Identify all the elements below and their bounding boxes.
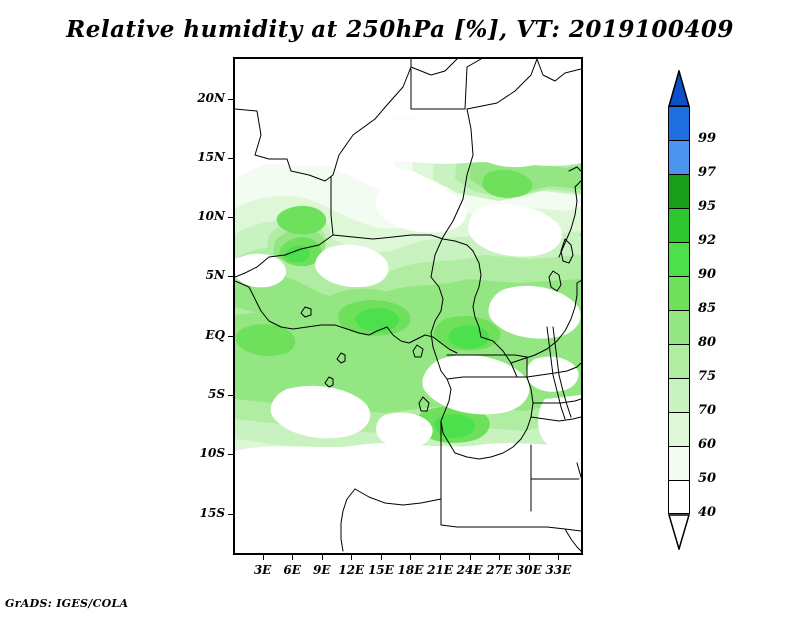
colorbar-label: 80 xyxy=(698,335,716,350)
lon-tick xyxy=(529,555,530,560)
lat-tick xyxy=(228,217,233,218)
colorbar-band xyxy=(668,378,690,412)
lat-tick xyxy=(228,395,233,396)
colorbar-label: 85 xyxy=(698,301,716,316)
colorbar-band xyxy=(668,208,690,242)
colorbar-band xyxy=(668,446,690,480)
lat-label: 20N xyxy=(169,91,225,105)
colorbar-label: 75 xyxy=(698,369,716,384)
lat-tick xyxy=(228,158,233,159)
humidity-field xyxy=(235,59,581,553)
colorbar-band xyxy=(668,412,690,446)
lat-label: 10N xyxy=(169,209,225,223)
lat-label: 15S xyxy=(169,506,225,520)
lon-tick xyxy=(410,555,411,560)
lon-tick xyxy=(292,555,293,560)
colorbar-band xyxy=(668,242,690,276)
page-title: Relative humidity at 250hPa [%], VT: 201… xyxy=(0,16,800,43)
colorbar-arrow-top xyxy=(668,70,690,106)
colorbar-band xyxy=(668,276,690,310)
lat-tick xyxy=(228,454,233,455)
lat-label: EQ xyxy=(169,328,225,342)
colorbar-band xyxy=(668,344,690,378)
colorbar-label: 40 xyxy=(698,505,716,520)
colorbar-label: 70 xyxy=(698,403,716,418)
lon-tick xyxy=(440,555,441,560)
colorbar-label: 97 xyxy=(698,165,716,180)
colorbar-label: 92 xyxy=(698,233,716,248)
colorbar-label: 95 xyxy=(698,199,716,214)
colorbar-label: 99 xyxy=(698,131,716,146)
lon-tick xyxy=(263,555,264,560)
map-svg xyxy=(235,59,581,553)
lat-label: 10S xyxy=(169,446,225,460)
grads-credit: GrADS: IGES/COLA xyxy=(5,597,128,610)
lon-tick xyxy=(381,555,382,560)
colorbar-band xyxy=(668,480,690,514)
lat-tick xyxy=(228,336,233,337)
colorbar-label: 60 xyxy=(698,437,716,452)
lat-tick xyxy=(228,514,233,515)
lon-tick xyxy=(351,555,352,560)
grads-plot-canvas: Relative humidity at 250hPa [%], VT: 201… xyxy=(0,0,800,618)
lon-tick xyxy=(322,555,323,560)
colorbar[interactable] xyxy=(668,70,690,550)
lon-label: 33E xyxy=(534,563,582,577)
colorbar-label: 50 xyxy=(698,471,716,486)
colorbar-band xyxy=(668,174,690,208)
map-plot-area[interactable] xyxy=(233,57,583,555)
lat-tick xyxy=(228,99,233,100)
colorbar-arrow-bottom xyxy=(668,514,690,550)
lon-tick xyxy=(470,555,471,560)
colorbar-band xyxy=(668,140,690,174)
lat-tick xyxy=(228,276,233,277)
colorbar-band xyxy=(668,106,690,140)
colorbar-band xyxy=(668,310,690,344)
lat-label: 15N xyxy=(169,150,225,164)
colorbar-label: 90 xyxy=(698,267,716,282)
lat-label: 5S xyxy=(169,387,225,401)
lon-tick xyxy=(558,555,559,560)
lat-label: 5N xyxy=(169,268,225,282)
lon-tick xyxy=(499,555,500,560)
